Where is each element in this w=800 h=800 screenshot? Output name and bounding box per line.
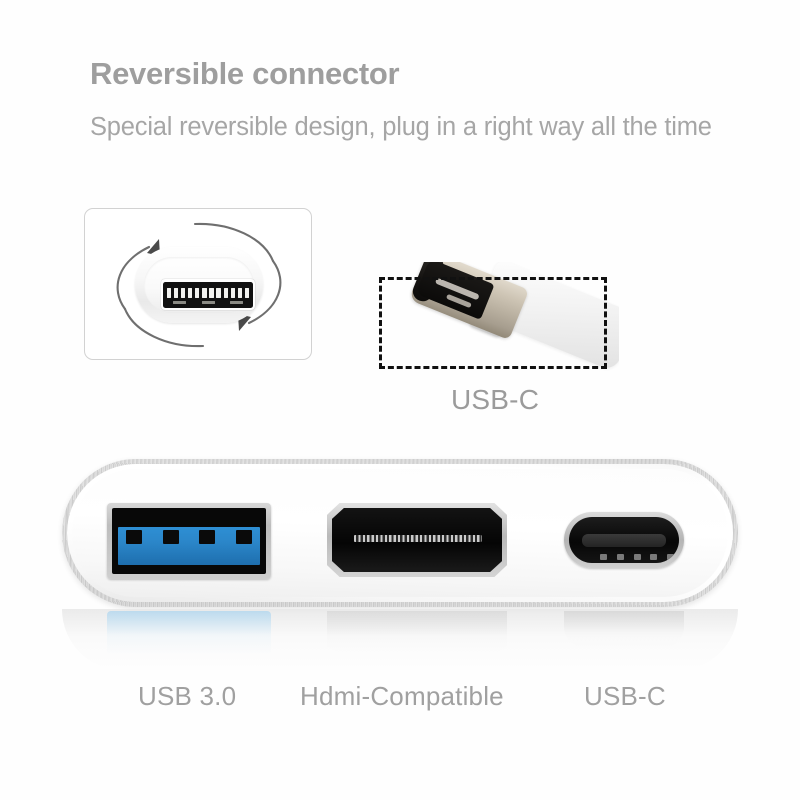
usb-c-plug-caption: USB-C	[451, 384, 539, 416]
usb-c-port-contacts	[600, 554, 674, 560]
port-label-usb-a: USB 3.0	[138, 681, 236, 712]
reflection-hdmi	[327, 611, 507, 653]
reflection-usb-a	[107, 611, 271, 655]
port-shell-inner	[144, 257, 254, 313]
feature-headline: Reversible connector	[90, 56, 399, 92]
usb-a-port-cavity	[112, 508, 266, 574]
usb-a-contact-notches	[126, 530, 252, 544]
infographic-canvas: Reversible connector Special reversible …	[0, 0, 800, 800]
usb-c-port-front-icon	[135, 247, 263, 323]
usb-c-port-tongue	[582, 534, 666, 547]
hdmi-port-cavity	[332, 508, 502, 572]
usb-a-port	[107, 503, 271, 579]
hdmi-pin-strip	[354, 535, 482, 542]
port-pin-row-upper	[167, 288, 249, 298]
usb-c-port-cavity	[569, 517, 679, 563]
usb-c-port	[564, 512, 684, 568]
usb-c-plug-highlight-box	[379, 277, 607, 369]
reflection-usb-c	[564, 611, 684, 647]
port-label-usb-c: USB-C	[584, 681, 666, 712]
feature-description: Special reversible design, plug in a rig…	[90, 110, 750, 144]
port-slot	[161, 279, 255, 310]
port-label-hdmi: Hdmi-Compatible	[300, 681, 504, 712]
port-slot-cavity	[163, 282, 253, 308]
hdmi-port	[327, 503, 507, 577]
device-reflection	[62, 609, 738, 671]
port-pin-row-lower	[173, 301, 243, 304]
reversible-port-diagram	[84, 208, 312, 360]
